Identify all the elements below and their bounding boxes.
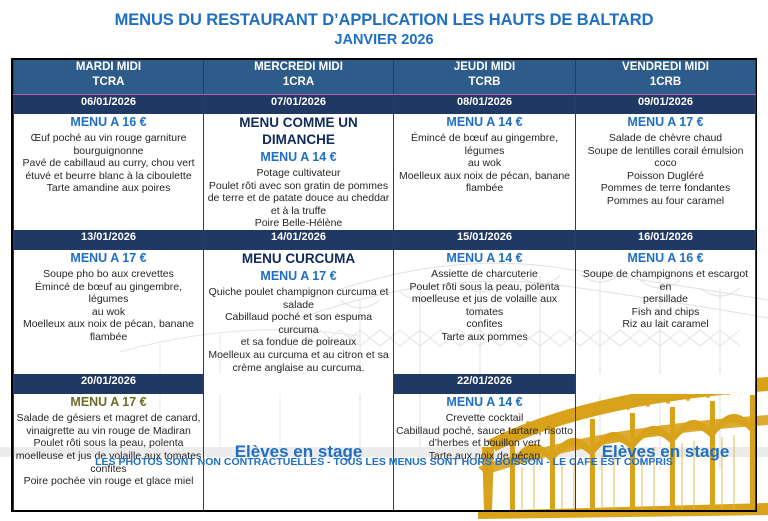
menu-item-line: Pavé de cabillaud au curry, chou vert	[14, 157, 203, 170]
date-cell-empty	[576, 374, 756, 394]
menu-price: MENU A 17 €	[14, 250, 203, 266]
column-class-label: 1CRB	[576, 75, 755, 90]
menu-cell-stage: Elèves en stage	[576, 394, 756, 510]
date-cell: 14/01/2026	[204, 230, 394, 250]
menu-item-line: Fish and chips	[576, 306, 755, 319]
menu-price: MENU A 17 €	[204, 268, 393, 284]
menus-table-container: MARDI MIDI TCRA MERCREDI MIDI 1CRA JEUDI…	[11, 58, 757, 512]
menu-special-title: MENU COMME UN DIMANCHE	[204, 114, 393, 148]
menu-item-line: bourguignonne	[14, 145, 203, 158]
column-header-1: MARDI MIDI TCRA	[14, 60, 204, 94]
menu-price: MENU A 14 €	[394, 250, 575, 266]
menu-item-line: au wok	[14, 306, 203, 319]
menu-item-line: Poulet rôti sous la peau, polenta	[394, 281, 575, 294]
menu-item-line: Riz au lait caramel	[576, 318, 755, 331]
menu-items: Œuf poché au vin rouge garniturebourguig…	[14, 132, 203, 195]
menu-item-line: flambée	[394, 182, 575, 195]
menu-item-line: Poisson Dugléré	[576, 170, 755, 183]
column-day-label: MERCREDI MIDI	[204, 60, 393, 75]
menu-item-line: Quiche poulet champignon curcuma et	[204, 286, 393, 299]
menu-item-line: Moelleux au curcuma et au citron et sa	[204, 349, 393, 362]
menu-item-line: étuvé et beurre blanc à la ciboulette	[14, 170, 203, 183]
menu-item-line: vinaigrette au vin rouge de Madiran	[14, 425, 203, 438]
menu-item-line: Cabillaud poché, sauce tartare, risotto	[394, 425, 575, 438]
menu-cell-stage: Elèves en stage	[204, 394, 394, 510]
menu-item-line: Tarte amandine aux poires	[14, 182, 203, 195]
menu-item-line: Tarte aux pommes	[394, 331, 575, 344]
menu-cell: MENU A 16 € Œuf poché au vin rouge garni…	[14, 114, 204, 230]
menu-item-line: Crevette cocktail	[394, 412, 575, 425]
menu-row-week-3: MENU A 17 € Salade de gésiers et magret …	[14, 394, 756, 510]
menu-price: MENU A 14 €	[394, 114, 575, 130]
menu-item-line: Œuf poché au vin rouge garniture	[14, 132, 203, 145]
footer-note: LES PHOTOS SONT NON CONTRACTUELLES - TOU…	[0, 455, 768, 469]
menu-price: MENU A 14 €	[394, 394, 575, 410]
page-title: MENUS DU RESTAURANT D’APPLICATION LES HA…	[0, 10, 768, 30]
menu-items: Soupe pho bo aux crevettesÉmincé de bœuf…	[14, 268, 203, 344]
menu-items: Salade de chèvre chaudSoupe de lentilles…	[576, 132, 755, 208]
menu-cell: MENU A 17 € Soupe pho bo aux crevettesÉm…	[14, 250, 204, 374]
date-cell: 09/01/2026	[576, 94, 756, 114]
column-day-label: JEUDI MIDI	[394, 60, 575, 75]
column-class-label: TCRB	[394, 75, 575, 90]
column-class-label: TCRA	[14, 75, 203, 90]
menu-price: MENU A 16 €	[576, 250, 755, 266]
menu-items: Potage cultivateurPoulet rôti avec son g…	[204, 167, 393, 230]
menu-item-line: Poire pochée vin rouge et glace miel	[14, 475, 203, 488]
menu-item-line: Moelleux aux noix de pécan, banane	[14, 318, 203, 331]
column-day-label: VENDREDI MIDI	[576, 60, 755, 75]
menu-item-line: Potage cultivateur	[204, 167, 393, 180]
menu-item-line: Assiette de charcuterie	[394, 268, 575, 281]
menu-item-line: Pommes de terre fondantes	[576, 182, 755, 195]
menu-item-line: moelleuse et jus de volaille aux tomates	[394, 293, 575, 318]
menu-cell: MENU A 17 € Salade de chèvre chaudSoupe …	[576, 114, 756, 230]
date-row-week-1: 06/01/2026 07/01/2026 08/01/2026 09/01/2…	[14, 94, 756, 114]
menu-item-line: Moelleux aux noix de pécan, banane	[394, 170, 575, 183]
menu-item-line: Poulet rôti avec son gratin de pommes	[204, 180, 393, 193]
date-cell: 16/01/2026	[576, 230, 756, 250]
date-cell: 20/01/2026	[14, 374, 204, 394]
page-title-block: MENUS DU RESTAURANT D’APPLICATION LES HA…	[0, 0, 768, 50]
menu-cell: MENU COMME UN DIMANCHE MENU A 14 € Potag…	[204, 114, 394, 230]
column-header-2: MERCREDI MIDI 1CRA	[204, 60, 394, 94]
date-cell: 08/01/2026	[394, 94, 576, 114]
menu-price: MENU A 16 €	[14, 114, 203, 130]
menu-cell: MENU A 16 € Soupe de champignons et esca…	[576, 250, 756, 374]
menu-special-title: MENU CURCUMA	[204, 250, 393, 267]
menu-items: Soupe de champignons et escargot enpersi…	[576, 268, 755, 331]
menu-item-line: Poulet rôti sous la peau, polenta	[14, 437, 203, 450]
table-header-row: MARDI MIDI TCRA MERCREDI MIDI 1CRA JEUDI…	[14, 60, 756, 94]
menu-item-line: Soupe pho bo aux crevettes	[14, 268, 203, 281]
students-on-internship-label: Elèves en stage	[576, 394, 755, 510]
column-day-label: MARDI MIDI	[14, 60, 203, 75]
menu-item-line: confites	[394, 318, 575, 331]
menu-item-line: Salade de chèvre chaud	[576, 132, 755, 145]
menu-item-line: Émincé de bœuf au gingembre, légumes	[14, 281, 203, 306]
menu-item-line: d’herbes et bouillon vert	[394, 437, 575, 450]
menu-cell: MENU A 14 € Crevette cocktailCabillaud p…	[394, 394, 576, 510]
menu-items: Salade de gésiers et magret de canard,vi…	[14, 412, 203, 488]
menu-price: MENU A 17 €	[576, 114, 755, 130]
menu-item-line: Pommes au four caramel	[576, 195, 755, 208]
menu-item-line: Émincé de bœuf au gingembre, légumes	[394, 132, 575, 157]
menu-item-line: flambée	[14, 331, 203, 344]
menu-item-line: au wok	[394, 157, 575, 170]
menu-cell: MENU A 14 € Assiette de charcuteriePoule…	[394, 250, 576, 374]
menu-item-line: de terre et de patate douce au cheddar	[204, 192, 393, 205]
menu-item-line: Soupe de lentilles corail émulsion coco	[576, 145, 755, 170]
date-cell: 15/01/2026	[394, 230, 576, 250]
menu-item-line: salade	[204, 299, 393, 312]
menu-cell: MENU A 17 € Salade de gésiers et magret …	[14, 394, 204, 510]
menu-row-week-2: MENU A 17 € Soupe pho bo aux crevettesÉm…	[14, 250, 756, 374]
menu-item-line: et à la truffe	[204, 205, 393, 218]
menu-item-line: persillade	[576, 293, 755, 306]
page-subtitle: JANVIER 2026	[0, 31, 768, 50]
date-cell: 13/01/2026	[14, 230, 204, 250]
column-class-label: 1CRA	[204, 75, 393, 90]
date-cell-empty	[204, 374, 394, 394]
menu-cell: MENU A 14 € Émincé de bœuf au gingembre,…	[394, 114, 576, 230]
menu-row-week-1: MENU A 16 € Œuf poché au vin rouge garni…	[14, 114, 756, 230]
date-cell: 06/01/2026	[14, 94, 204, 114]
date-cell: 07/01/2026	[204, 94, 394, 114]
column-header-3: JEUDI MIDI TCRB	[394, 60, 576, 94]
menu-item-line: Cabillaud poché et son espuma curcuma	[204, 311, 393, 336]
menu-items: Émincé de bœuf au gingembre, légumesau w…	[394, 132, 575, 195]
menu-item-line: Salade de gésiers et magret de canard,	[14, 412, 203, 425]
menu-cell: MENU CURCUMA MENU A 17 € Quiche poulet c…	[204, 250, 394, 374]
menu-item-line: Poire Belle-Hélène	[204, 217, 393, 230]
menu-item-line: et sa fondue de poireaux	[204, 336, 393, 349]
column-header-4: VENDREDI MIDI 1CRB	[576, 60, 756, 94]
date-row-week-2: 13/01/2026 14/01/2026 15/01/2026 16/01/2…	[14, 230, 756, 250]
menu-item-line: Soupe de champignons et escargot en	[576, 268, 755, 293]
date-row-week-3: 20/01/2026 22/01/2026	[14, 374, 756, 394]
menu-items: Assiette de charcuteriePoulet rôti sous …	[394, 268, 575, 344]
menu-price: MENU A 17 €	[14, 394, 203, 410]
menu-item-line: crème anglaise au curcuma.	[204, 362, 393, 375]
menu-price: MENU A 14 €	[204, 149, 393, 165]
menus-table: MARDI MIDI TCRA MERCREDI MIDI 1CRA JEUDI…	[13, 60, 756, 510]
menu-items: Quiche poulet champignon curcuma etsalad…	[204, 286, 393, 374]
date-cell: 22/01/2026	[394, 374, 576, 394]
students-on-internship-label: Elèves en stage	[204, 394, 393, 510]
